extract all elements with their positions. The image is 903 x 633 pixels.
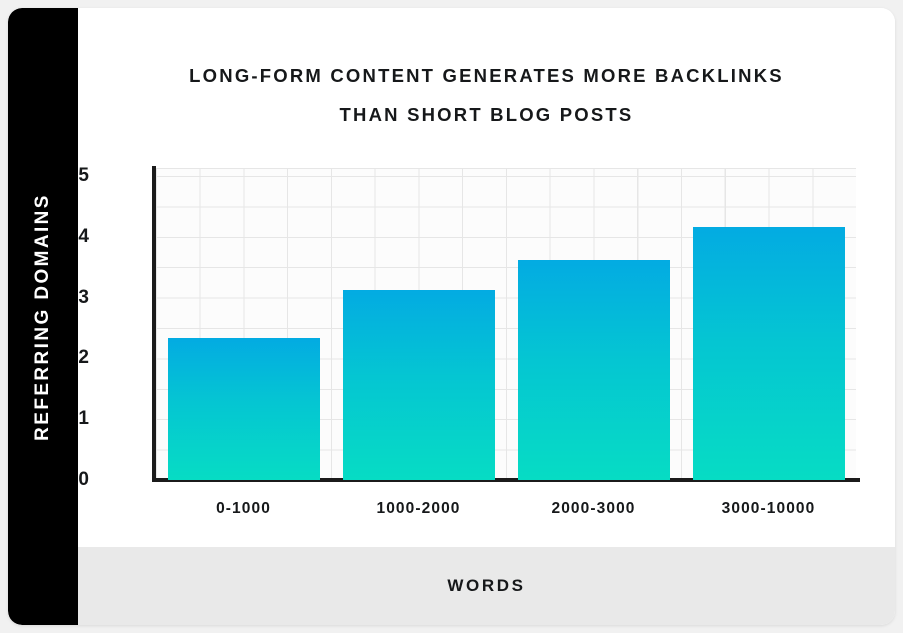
bar [693,227,845,480]
bar [168,338,320,480]
x-axis-title: WORDS [447,576,525,596]
y-axis-title-band: REFERRING DOMAINS [8,8,78,625]
x-tick-label: 1000-2000 [331,500,506,518]
bar [518,260,670,480]
x-axis-title-band: WORDS [78,547,895,625]
chart-plot-region: LONG-FORM CONTENT GENERATES MORE BACKLIN… [78,8,895,547]
chart-card: REFERRING DOMAINS LONG-FORM CONTENT GENE… [8,8,895,625]
y-tick-label: 1 [49,408,89,430]
y-axis-line [152,166,156,482]
x-tick-label: 2000-3000 [506,500,681,518]
chart-title-line-1: LONG-FORM CONTENT GENERATES MORE BACKLIN… [78,56,895,95]
y-tick-label: 5 [49,165,89,187]
x-tick-label: 0-1000 [156,500,331,518]
y-tick-label: 3 [49,287,89,309]
chart-title-line-2: THAN SHORT BLOG POSTS [78,95,895,134]
y-tick-label: 2 [49,347,89,369]
chart-title: LONG-FORM CONTENT GENERATES MORE BACKLIN… [78,56,895,134]
x-tick-label: 3000-10000 [681,500,856,518]
y-tick-label: 0 [49,469,89,491]
bar [343,290,495,480]
y-tick-label: 4 [49,226,89,248]
